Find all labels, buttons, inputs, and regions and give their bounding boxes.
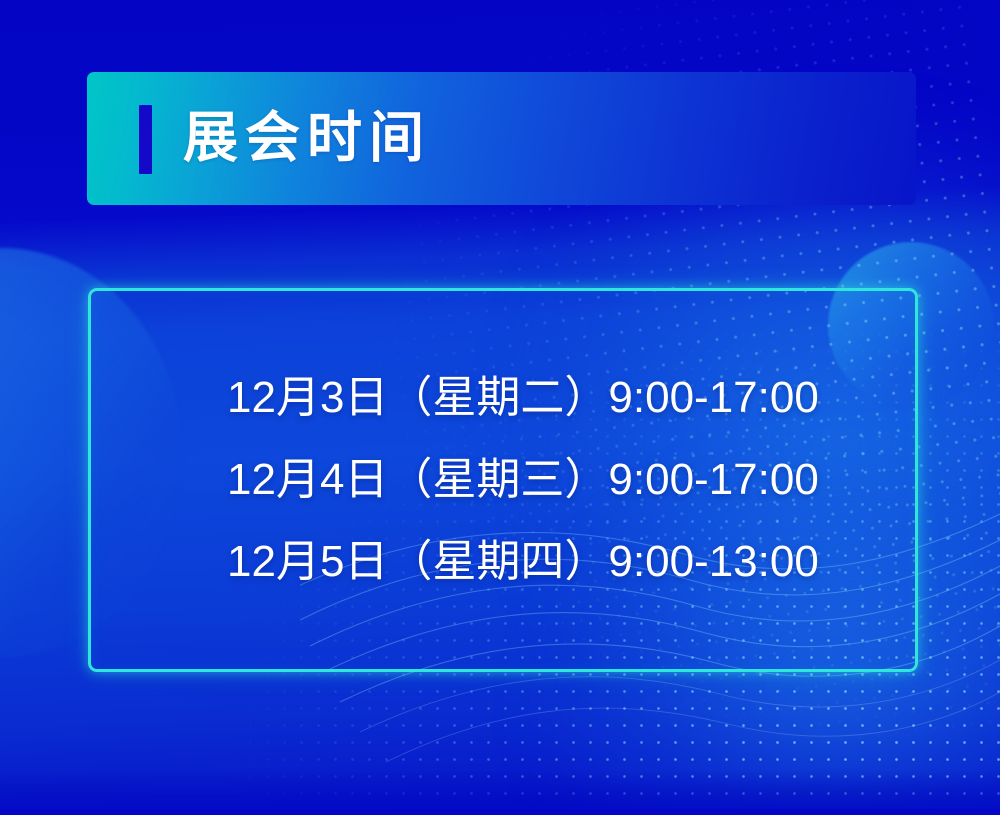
page-title: 展会时间 (183, 110, 431, 165)
exhibition-time-poster: 展会时间 12月3日（星期二）9:00-17:00 12月4日（星期三）9:00… (0, 0, 1000, 815)
header-banner: 展会时间 (87, 72, 916, 205)
schedule-card: 12月3日（星期二）9:00-17:00 12月4日（星期三）9:00-17:0… (88, 288, 918, 672)
bottom-edge-line (0, 809, 1000, 815)
schedule-item: 12月5日（星期四）9:00-13:00 (227, 540, 819, 584)
header-accent-bar (139, 105, 152, 174)
schedule-item: 12月3日（星期二）9:00-17:00 (227, 376, 819, 420)
schedule-item: 12月4日（星期三）9:00-17:00 (227, 458, 819, 502)
schedule-list: 12月3日（星期二）9:00-17:00 12月4日（星期三）9:00-17:0… (91, 291, 915, 669)
